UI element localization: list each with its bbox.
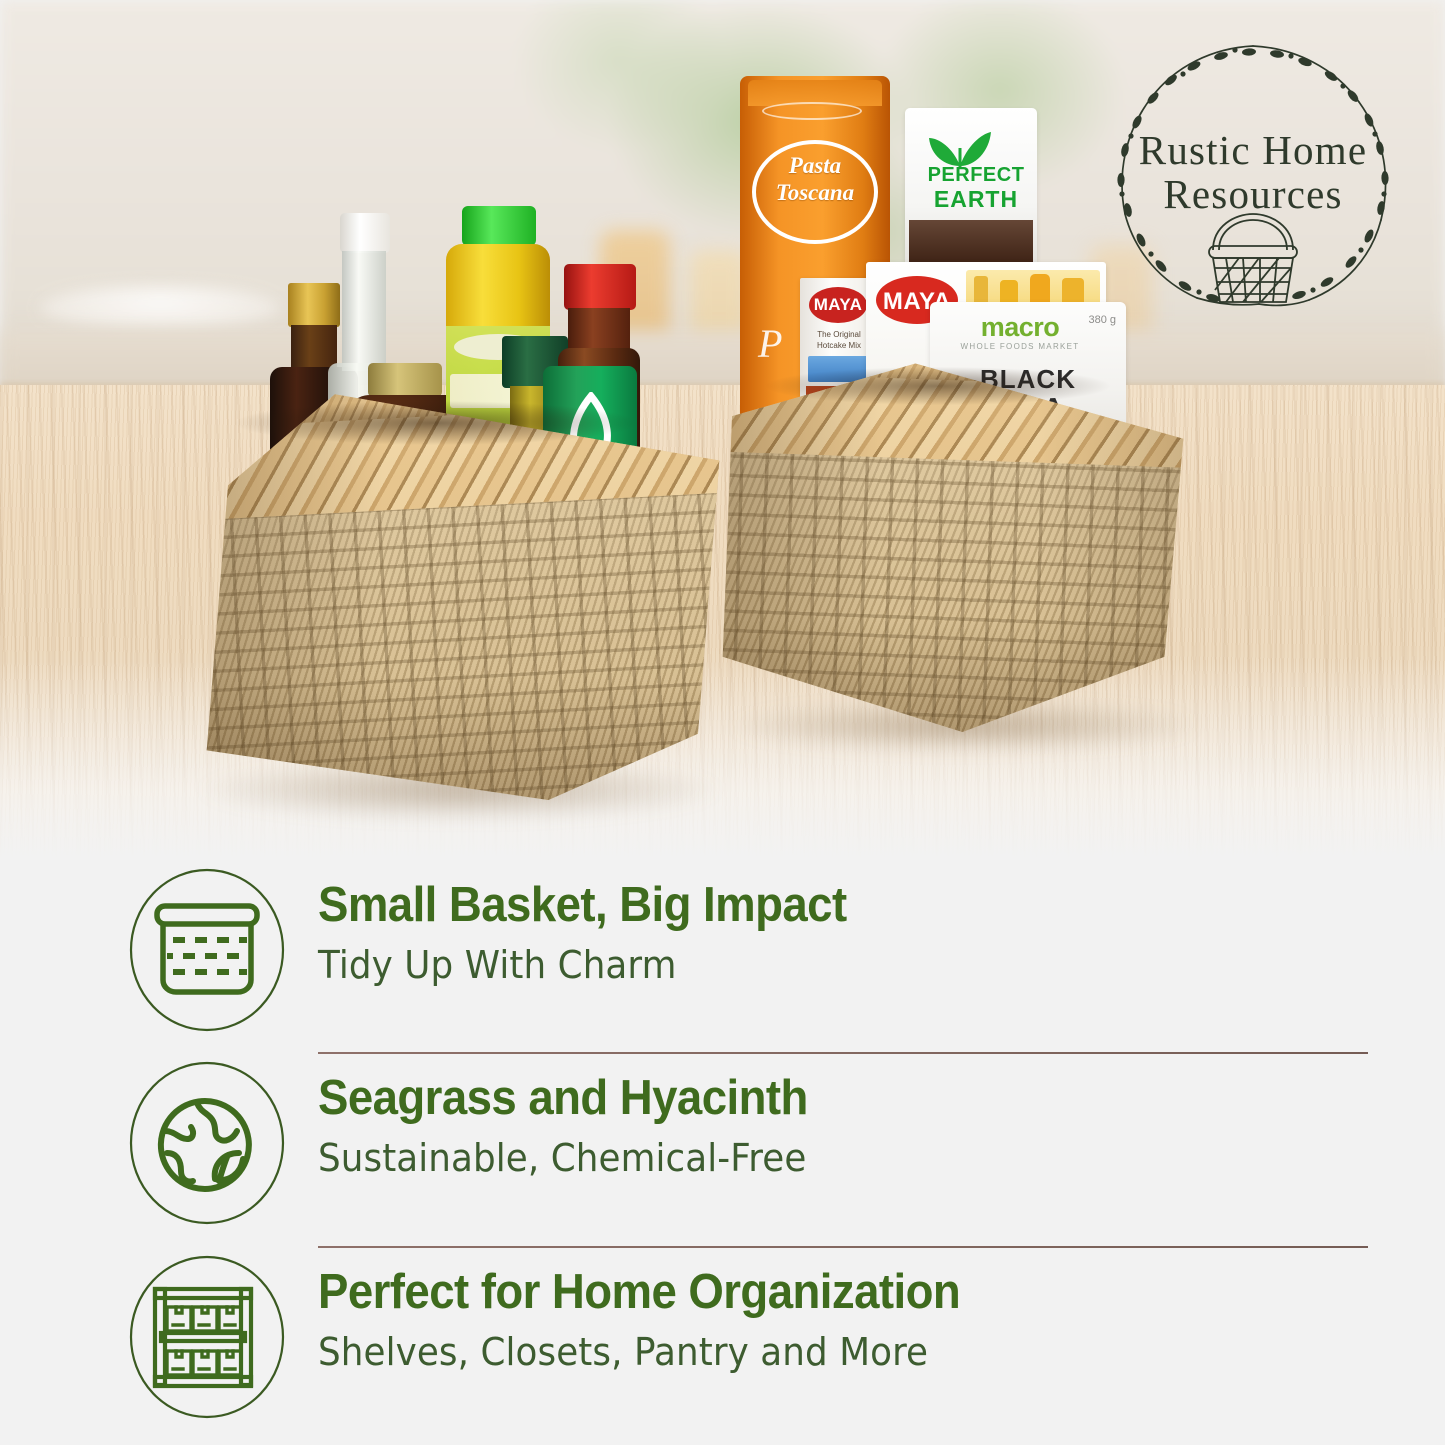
right-basket-weave	[718, 356, 1188, 732]
package-contents-window	[909, 220, 1033, 268]
feature-seagrass-hyacinth: Seagrass and Hyacinth Sustainable, Chemi…	[0, 1055, 1445, 1248]
globe-leaf-icon	[127, 1061, 287, 1226]
bottle-cap	[340, 213, 390, 253]
feature-text-block: Perfect for Home Organization Shelves, C…	[318, 1267, 1009, 1375]
feature-title: Perfect for Home Organization	[318, 1267, 960, 1319]
feature-subtitle: Sustainable, Chemical-Free	[318, 1135, 813, 1181]
pasta-label: Pasta Toscana	[752, 152, 878, 206]
shelving-unit-icon-svg	[127, 1255, 287, 1420]
feature-list: Small Basket, Big Impact Tidy Up With Ch…	[0, 852, 1445, 1445]
product-photo: Pasta Toscana P PERFECT EARTH MAYA	[0, 0, 1445, 860]
feature-title: Seagrass and Hyacinth	[318, 1073, 808, 1125]
bottle-cap	[462, 206, 536, 246]
basket-shading-bottom	[196, 386, 730, 800]
product-listing-image: Pasta Toscana P PERFECT EARTH MAYA	[0, 0, 1445, 1445]
feature-home-organization: Perfect for Home Organization Shelves, C…	[0, 1249, 1445, 1442]
perfect-earth-line2: EARTH	[917, 186, 1035, 213]
bottle-neck	[568, 308, 630, 352]
feature-title: Small Basket, Big Impact	[318, 880, 847, 932]
left-basket-weave	[196, 386, 730, 800]
macro-brand-sub: WHOLE FOODS MARKET	[956, 342, 1084, 351]
brand-logo: Rustic Home Resources	[1063, 28, 1443, 328]
feature-subtitle: Tidy Up With Charm	[318, 942, 852, 988]
feature-text-block: Seagrass and Hyacinth Sustainable, Chemi…	[318, 1073, 845, 1181]
feature-subtitle: Shelves, Closets, Pantry and More	[318, 1329, 967, 1375]
basket-interior-shadow	[226, 400, 646, 446]
bottle-neck	[342, 251, 386, 371]
feature-divider-2	[318, 1246, 1368, 1248]
perfect-earth-package: PERFECT EARTH	[905, 108, 1037, 268]
basket-icon	[127, 868, 287, 1033]
wreath-icon: Rustic Home Resources	[1063, 28, 1443, 328]
basket-shading-bottom	[718, 356, 1188, 732]
logo-line-2: Resources	[1163, 171, 1342, 217]
maya-sub-label: The Original Hotcake Mix	[806, 330, 872, 352]
background-plate	[40, 285, 280, 331]
maya-label: MAYA	[809, 295, 867, 315]
right-basket	[718, 356, 1188, 732]
feature-divider-1	[318, 1052, 1368, 1054]
feature-small-basket: Small Basket, Big Impact Tidy Up With Ch…	[0, 862, 1445, 1055]
feature-text-block: Small Basket, Big Impact Tidy Up With Ch…	[318, 880, 886, 988]
package-top-emblem	[762, 102, 862, 120]
basket-glyph-icon	[1209, 214, 1297, 302]
shelving-unit-icon	[127, 1255, 287, 1420]
globe-leaf-icon-svg	[127, 1061, 287, 1226]
perfect-earth-line1: PERFECT	[917, 164, 1035, 187]
basket-icon-svg	[127, 868, 287, 1033]
logo-line-1: Rustic Home	[1139, 127, 1367, 173]
left-basket	[196, 386, 730, 800]
leaf-pair-icon	[927, 126, 993, 168]
bottle-cap	[564, 264, 636, 310]
basket-interior-shadow	[758, 366, 1118, 406]
